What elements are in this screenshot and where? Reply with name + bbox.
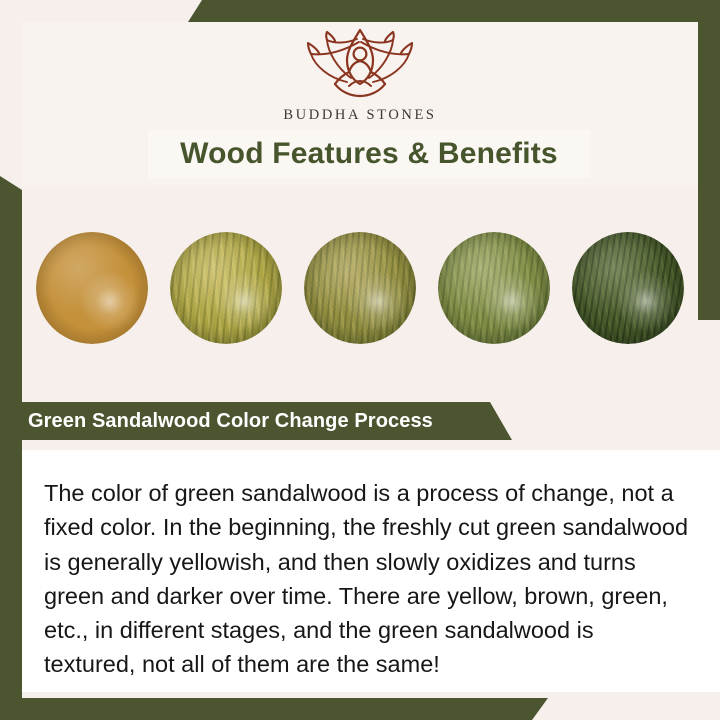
frame-band-left <box>0 176 22 720</box>
section-banner: Green Sandalwood Color Change Process <box>0 402 512 440</box>
infographic-card: BUDDHA STONES Wood Features & Benefits <box>0 0 720 720</box>
bead-stage-5 <box>572 232 684 344</box>
bead-shading-2 <box>170 232 282 344</box>
bead-stage-3 <box>304 232 416 344</box>
bead-shading-3 <box>304 232 416 344</box>
frame-band-top <box>188 0 720 22</box>
bead-stage-4 <box>438 232 550 344</box>
lotus-meditation-figure-icon <box>285 26 435 103</box>
brand-name: BUDDHA STONES <box>283 107 436 124</box>
bead-stage-2 <box>170 232 282 344</box>
page-title-plate: Wood Features & Benefits <box>148 130 590 178</box>
bead-shading-5 <box>572 232 684 344</box>
page-title: Wood Features & Benefits <box>180 137 558 171</box>
section-body-panel: The color of green sandalwood is a proce… <box>22 450 720 692</box>
section-body-text: The color of green sandalwood is a proce… <box>44 476 690 682</box>
brand-logo: BUDDHA STONES <box>0 26 720 126</box>
bead-color-stages <box>22 228 698 348</box>
bead-stage-1 <box>36 232 148 344</box>
bead-shading-1 <box>36 232 148 344</box>
bead-shading-4 <box>438 232 550 344</box>
section-banner-title: Green Sandalwood Color Change Process <box>28 410 433 433</box>
frame-band-bottom <box>0 698 548 720</box>
